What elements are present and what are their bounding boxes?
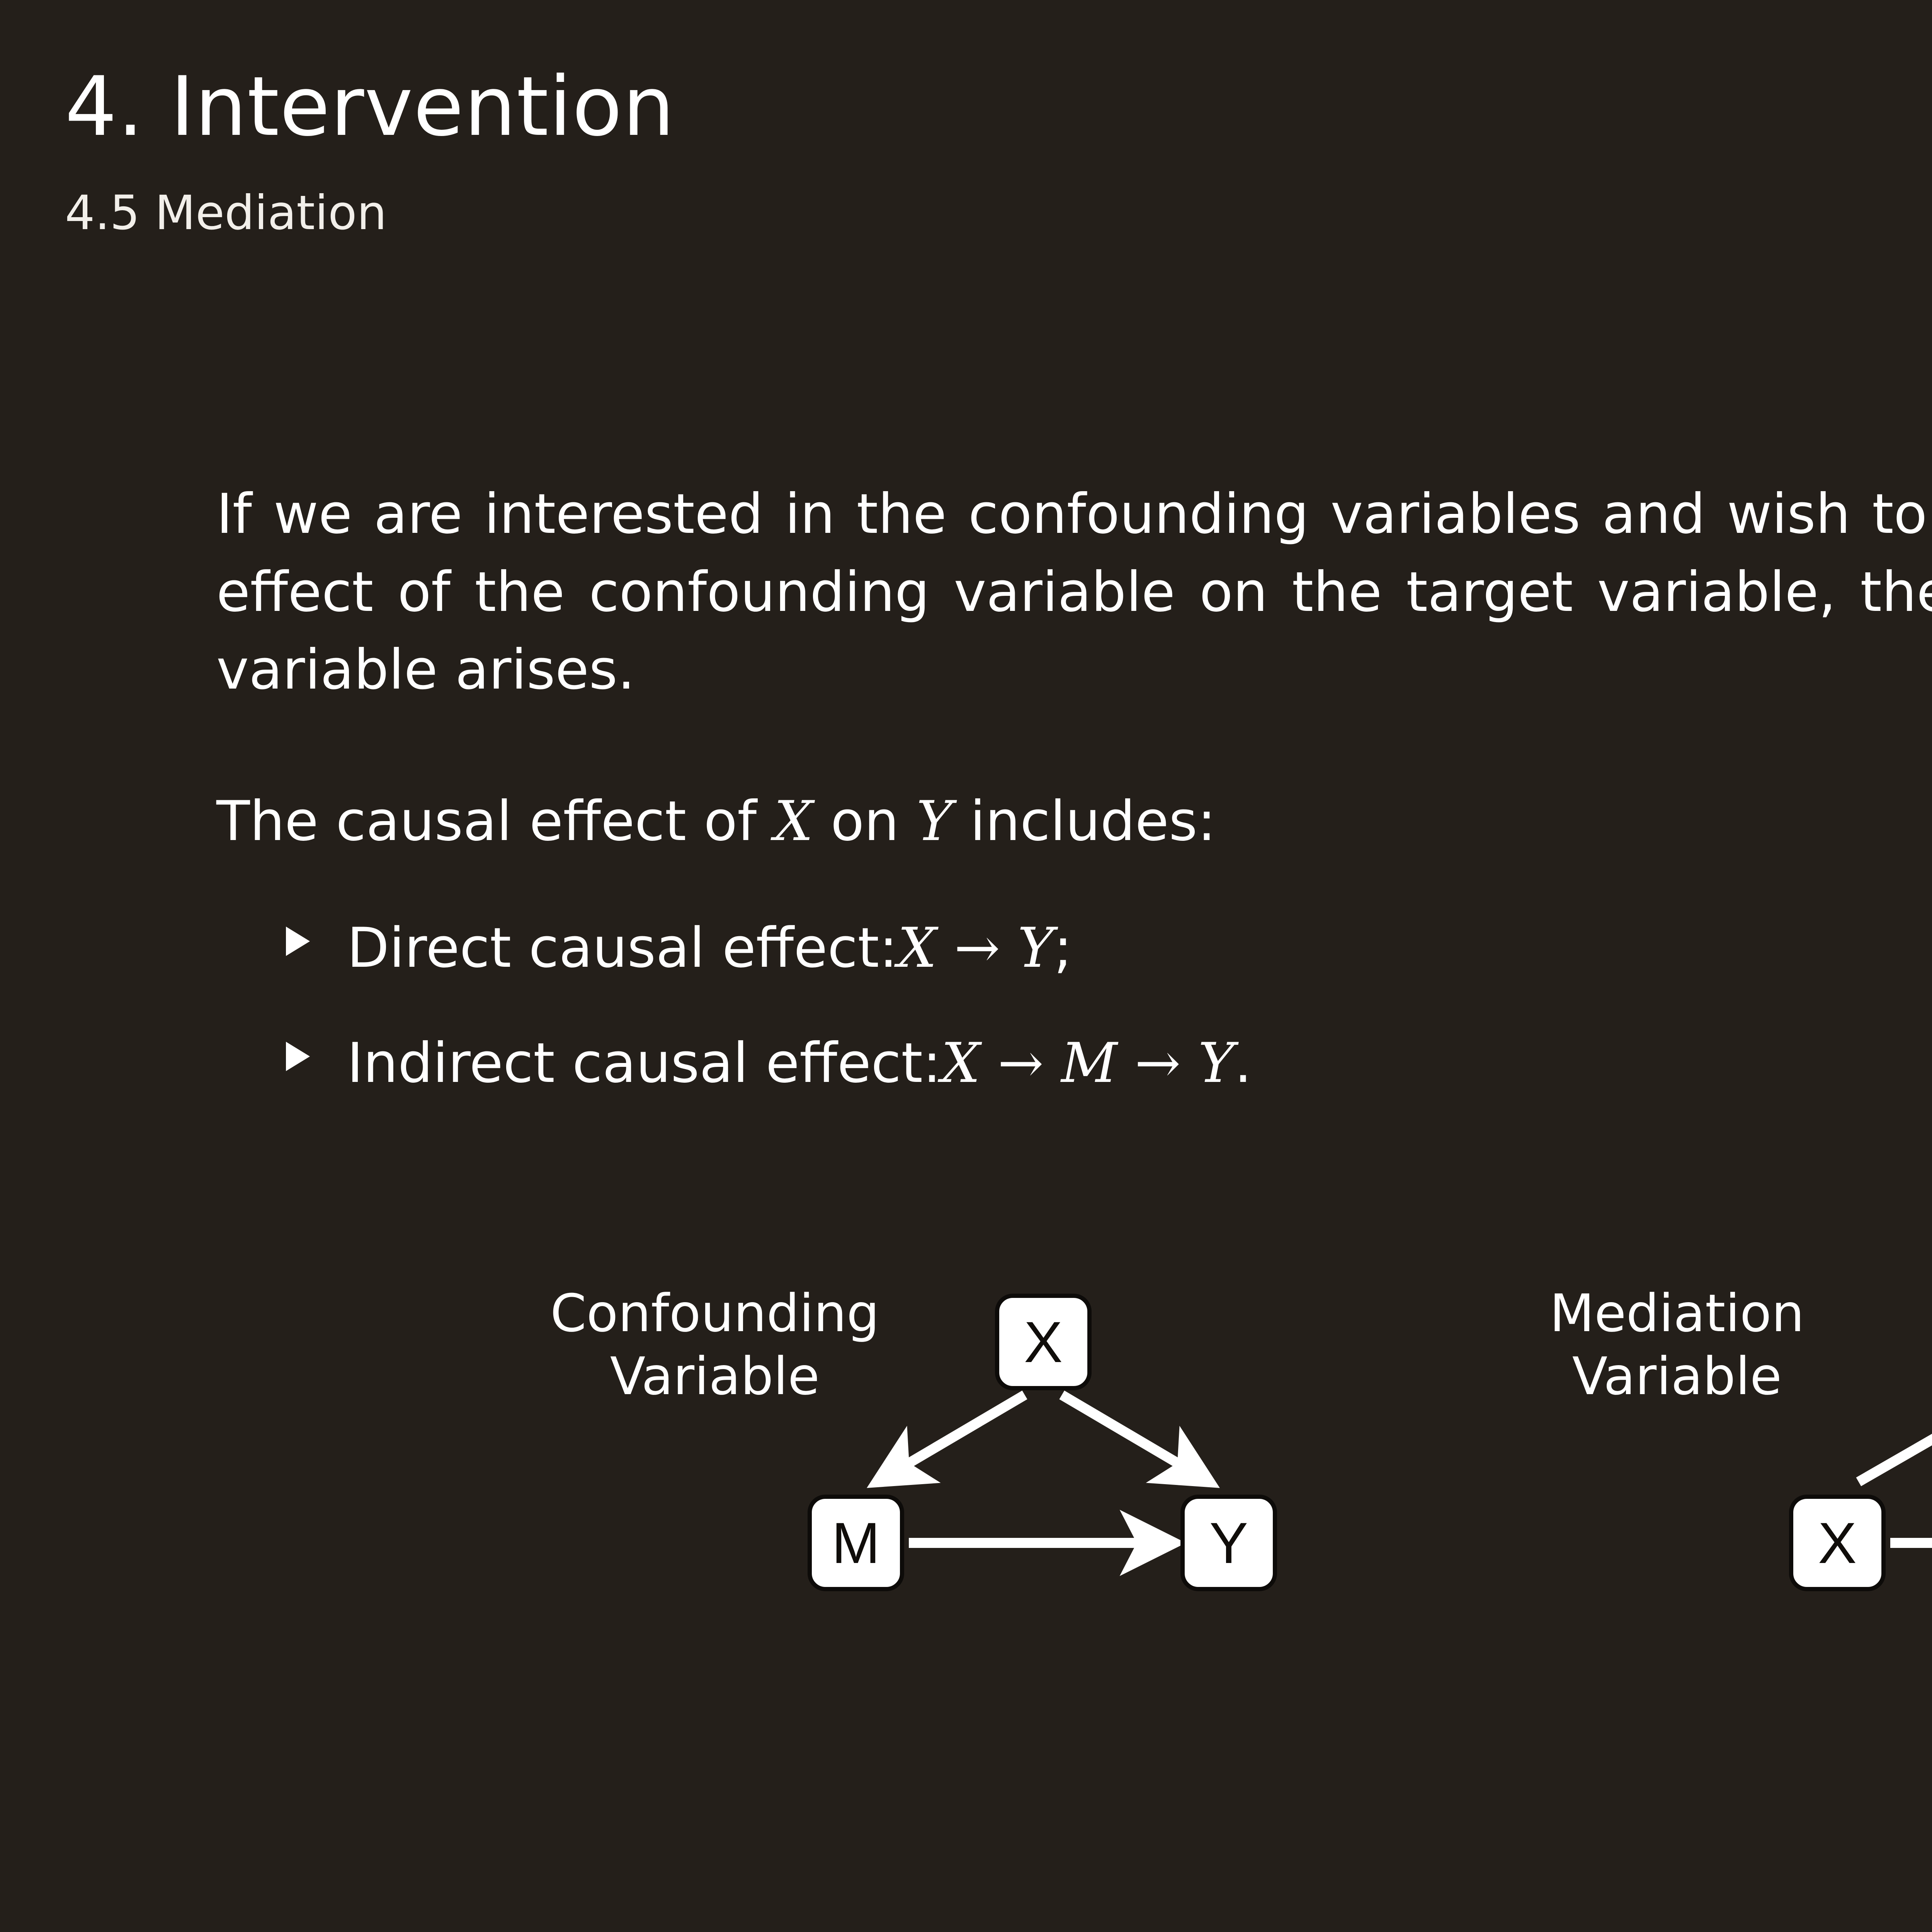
bullet-formula: X → Y [898, 910, 1054, 987]
page-subtitle: 4.5 Mediation [65, 185, 675, 240]
header: 4. Intervention 4.5 Mediation [65, 66, 675, 240]
intro-paragraph: If we are interested in the confounding … [216, 475, 1932, 709]
lead-var-x: X [774, 789, 813, 853]
node-x: X [995, 1294, 1092, 1390]
bullet-text: Indirect causal effect: [347, 1025, 941, 1102]
lead-suffix: includes: [952, 789, 1216, 853]
triangle-bullet-icon [286, 927, 310, 956]
lead-var-y: Y [917, 789, 953, 853]
list-item: Direct causal effect: X → Y; [216, 910, 1932, 987]
lead-prefix: The causal effect of [216, 789, 774, 853]
bullet-list: Direct causal effect: X → Y; Indirect ca… [216, 910, 1932, 1102]
mediation-variable-diagram: Mediation Variable M [1519, 1264, 1932, 1804]
lead-mid: on [813, 789, 916, 853]
bullet-formula: X → M → Y [941, 1025, 1235, 1102]
bullet-text: Direct causal effect: [347, 910, 898, 987]
lead-sentence: The causal effect of X on Y includes: [216, 782, 1932, 861]
list-item: Indirect causal effect: X → M → Y. [216, 1025, 1932, 1102]
bullet-terminator: . [1235, 1025, 1252, 1102]
causal-diagrams: Confounding Variable X [0, 1264, 1932, 1804]
confounding-variable-diagram: Confounding Variable X [537, 1264, 1464, 1804]
node-m: M [808, 1495, 904, 1591]
presentation-slide: 4. Intervention 4.5 Mediation [0, 0, 1932, 1932]
node-y: Y [1180, 1495, 1277, 1591]
page-title: 4. Intervention [65, 66, 675, 148]
slide-body: If we are interested in the confounding … [216, 475, 1932, 1141]
node-x: X [1789, 1495, 1886, 1591]
triangle-bullet-icon [286, 1042, 310, 1071]
bullet-terminator: ; [1054, 910, 1072, 987]
